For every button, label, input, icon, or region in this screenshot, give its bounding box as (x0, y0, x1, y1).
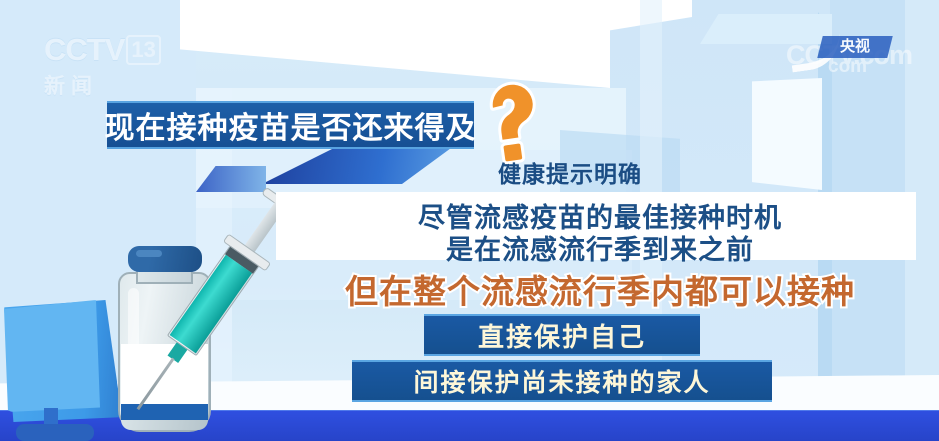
syringe-needle (137, 358, 175, 410)
benefit-text-1: 直接保护自己 (478, 317, 646, 354)
emphasis-text: 但在整个流感流行季内都可以接种 (270, 265, 930, 313)
cctv-site-watermark-suffix: com (828, 56, 867, 78)
cctv-site-badge-text: 央视 (820, 36, 890, 58)
cctv-channel-name: 新闻 (44, 70, 194, 100)
cctv-watermark-text: CCTV (44, 32, 124, 68)
benefit-bar-1: 直接保护自己 (424, 314, 700, 356)
clinic-chair-cushion (4, 300, 104, 412)
broadcast-graphic-frame: CCTV 13 新闻 CCTV.com com 央视 现在接种疫苗是否还来得及 (0, 0, 939, 441)
clinic-chair-base (16, 424, 94, 441)
vial-cap-highlight (136, 250, 162, 257)
cctv-channel-watermark: CCTV 13 新闻 (44, 32, 194, 94)
subtitle-text: 健康提示明确 (380, 155, 760, 189)
window-pane (752, 78, 822, 190)
cctv-site-badge: 央视 (817, 36, 892, 58)
question-mark-icon (475, 78, 553, 164)
statement-line-2: 是在流感流行季到来之前 (300, 228, 900, 267)
benefit-bar-2: 间接保护尚未接种的家人 (352, 360, 772, 402)
benefit-text-2: 间接保护尚未接种的家人 (413, 363, 710, 399)
headline-text: 现在接种疫苗是否还来得及 (105, 103, 477, 147)
cctv-channel-number: 13 (126, 35, 160, 65)
headline-bar: 现在接种疫苗是否还来得及 (107, 101, 474, 149)
